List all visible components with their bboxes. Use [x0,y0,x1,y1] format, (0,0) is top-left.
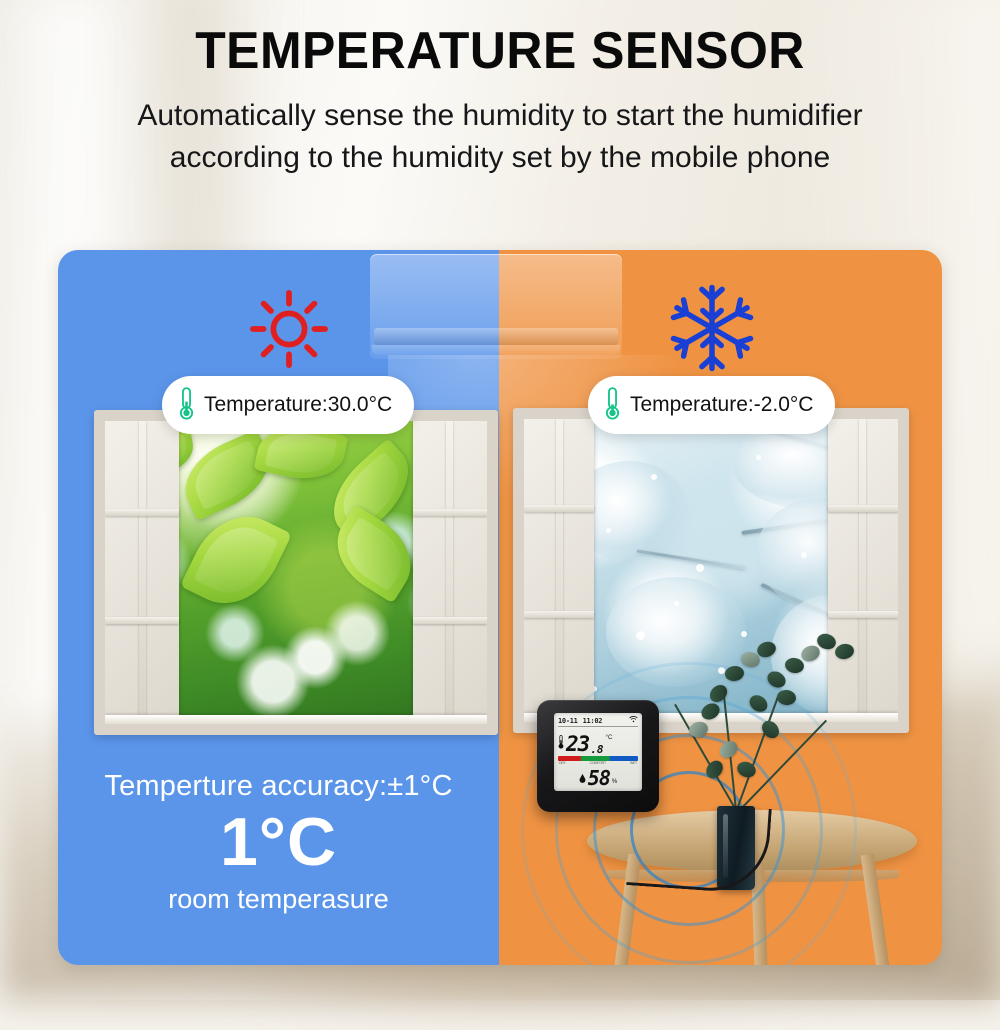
accuracy-sub-line: room temperasure [58,884,499,915]
subtitle-line-1: Automatically sense the humidity to star… [0,95,1000,138]
mullion-vertical [139,421,146,724]
wifi-icon [629,716,638,725]
plant-leaf [706,682,730,706]
room-scene: 10-11 11:02 [499,250,942,965]
window-sill [105,715,487,724]
droplet-icon [579,770,586,788]
lcd-time: 11:02 [583,717,603,725]
thermometer-icon [178,385,195,426]
lcd-humidity-value: 58 [588,768,610,788]
lcd-humidity-row: 58 % [558,765,638,789]
lcd-humidity-unit: % [612,779,617,785]
plant-leaf [776,689,796,706]
plant-leaf [687,720,709,740]
mullion-horizontal [413,617,487,624]
lcd-temperature-value: 23 [566,734,589,755]
sensor-lcd-display: 10-11 11:02 [554,713,642,791]
subtitle: Automatically sense the humidity to star… [0,95,1000,180]
mullion-horizontal [413,509,487,516]
accuracy-caption: Temperture accuracy:±1°C 1°C room temper… [58,770,499,915]
window-summer [94,410,498,735]
thermometer-icon [604,385,621,426]
subtitle-line-2: according to the humidity set by the mob… [0,137,1000,180]
thermometer-icon [558,734,564,755]
lcd-temperature-decimal: .8 [590,744,603,755]
lcd-temperature-unit: °C [606,735,613,741]
header: TEMPERATURE SENSOR Automatically sense t… [0,0,1000,180]
accuracy-line: Temperture accuracy:±1°C [58,770,499,803]
temperature-badge-hot: Temperature:30.0°C [162,376,414,434]
window-summer-inner [105,421,487,724]
lcd-status-row: 10-11 11:02 [558,716,638,727]
mullion-horizontal [105,509,179,516]
lcd-temperature-row: 23 .8 °C [558,727,638,755]
temperature-humidity-sensor[interactable]: 10-11 11:02 [537,700,659,812]
temperature-badge-cold-label: Temperature:-2.0°C [630,393,813,417]
mullion-vertical [446,421,453,724]
plant-leaf [724,665,745,682]
plant-leaf [699,700,723,722]
mullion-horizontal [105,617,179,624]
plant-leaf [716,738,740,762]
plant-leaf [746,692,770,715]
plant-leaf [765,668,789,690]
plant-leaf [834,642,856,661]
sun-icon [248,288,330,370]
lcd-date: 10-11 [558,717,578,725]
accuracy-big-value: 1°C [58,807,499,878]
split-comparison-panel: Temperature:30.0°C Temperature:-2.0°C Te… [58,250,942,965]
temperature-badge-cold: Temperature:-2.0°C [588,376,835,434]
page-title: TEMPERATURE SENSOR [20,0,980,79]
temperature-badge-hot-label: Temperature:30.0°C [204,393,392,417]
